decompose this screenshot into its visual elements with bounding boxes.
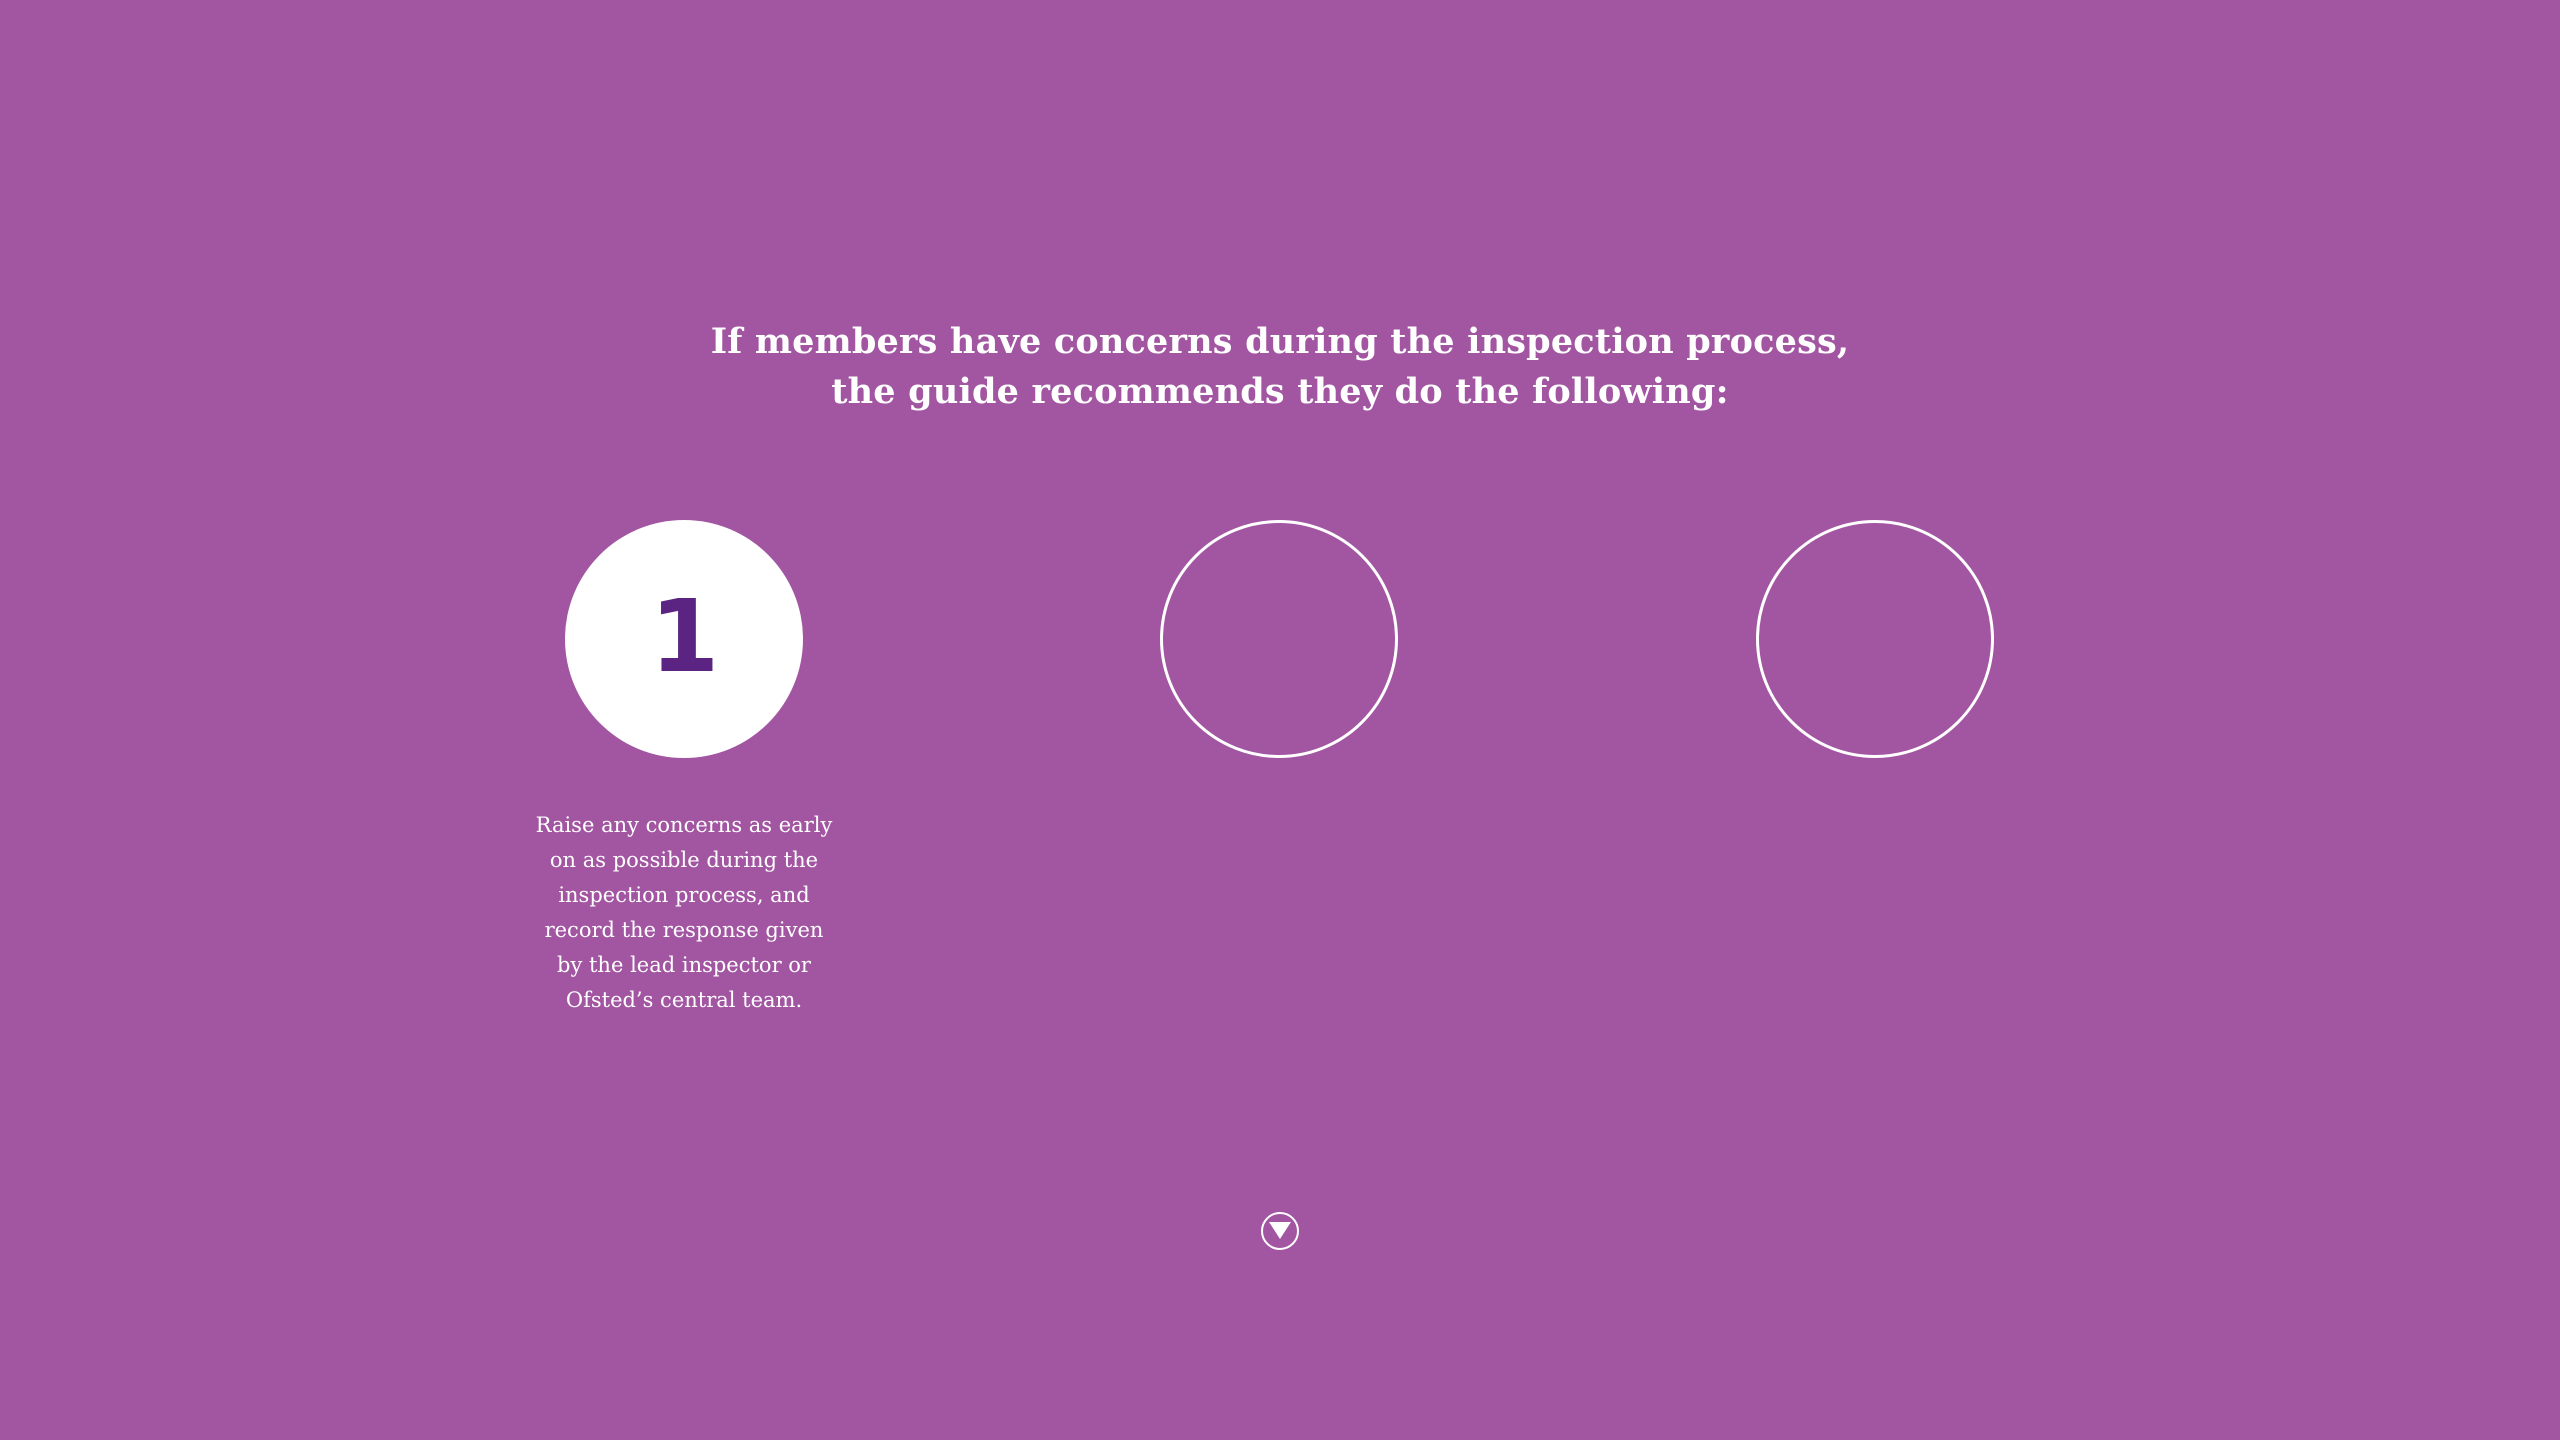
step-number-1: 1	[650, 587, 719, 687]
triangle-down-icon	[1269, 1222, 1291, 1239]
scroll-down-button[interactable]	[1261, 1212, 1299, 1250]
steps-row: 1 Raise any concerns as early on as poss…	[0, 520, 2560, 1160]
step-item-2	[1029, 520, 1529, 758]
step-item-1: 1 Raise any concerns as early on as poss…	[434, 520, 934, 1039]
step-circle-3[interactable]	[1756, 520, 1994, 758]
slide-container: If members have concerns during the insp…	[0, 0, 2560, 1440]
step-description-1: Raise any concerns as early on as possib…	[534, 808, 834, 1018]
step-circle-2[interactable]	[1160, 520, 1398, 758]
step-item-3	[1625, 520, 2125, 758]
step-circle-1[interactable]: 1	[565, 520, 803, 758]
page-title: If members have concerns during the insp…	[0, 317, 2560, 417]
